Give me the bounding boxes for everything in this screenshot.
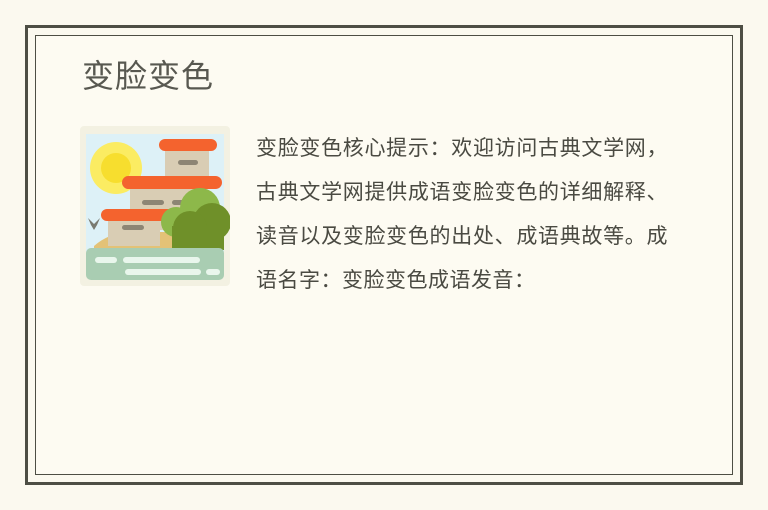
building-mid-roof	[122, 176, 222, 189]
article-thumbnail[interactable]	[80, 126, 230, 286]
water-line-4	[206, 269, 220, 275]
water-line-3	[125, 269, 201, 275]
page-canvas: 变脸变色	[0, 0, 768, 510]
article-body-row: 变脸变色核心提示：欢迎访问古典文学网，古典文学网提供成语变脸变色的详细解释、读音…	[60, 126, 708, 302]
article-summary: 变脸变色核心提示：欢迎访问古典文学网，古典文学网提供成语变脸变色的详细解释、读音…	[256, 126, 668, 302]
article-content: 变脸变色	[36, 36, 732, 474]
building-top-window	[178, 160, 198, 165]
page-title: 变脸变色	[60, 56, 708, 98]
building-top-roof	[159, 139, 217, 151]
landscape-temple-illustration	[80, 126, 230, 286]
water-panel	[86, 248, 224, 280]
building-low-window	[122, 225, 144, 230]
water-line-2	[123, 257, 200, 263]
water-line-1	[95, 257, 117, 263]
bush-dark-base	[172, 226, 224, 250]
building-mid-window-left	[142, 200, 164, 205]
